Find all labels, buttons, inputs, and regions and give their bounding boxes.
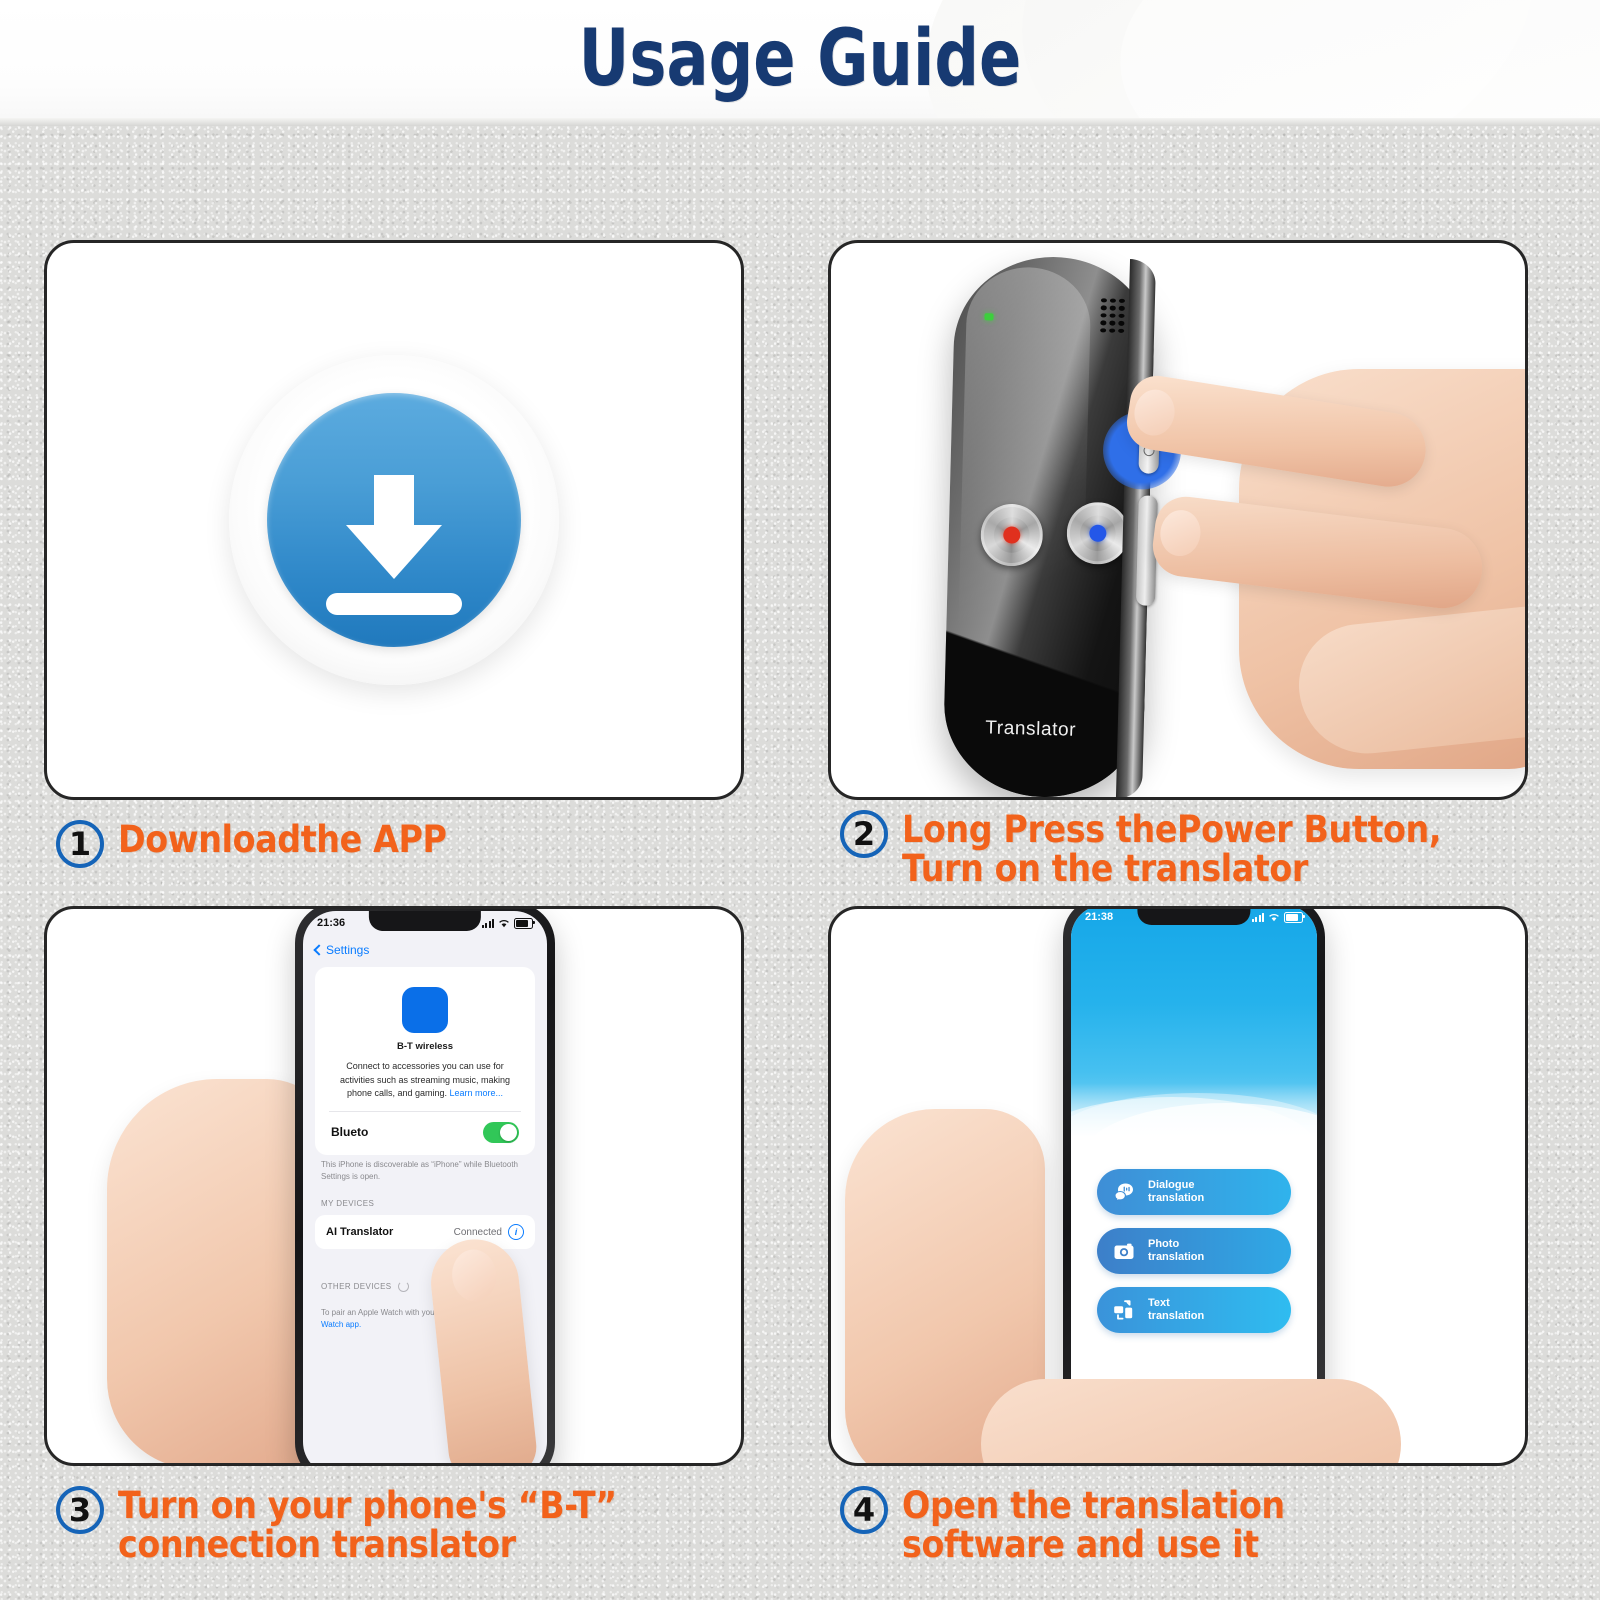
text-translation-button[interactable]: Text translation bbox=[1097, 1287, 1291, 1333]
status-icons bbox=[1252, 912, 1304, 923]
steps-grid: Translator bbox=[0, 126, 1600, 1600]
page-header: Usage Guide bbox=[0, 0, 1600, 124]
status-led bbox=[984, 313, 993, 320]
status-time: 21:36 bbox=[317, 917, 345, 929]
fingernail bbox=[1131, 387, 1178, 439]
download-icon[interactable] bbox=[229, 355, 559, 685]
status-icons bbox=[482, 918, 534, 929]
step-number-badge: 2 bbox=[840, 810, 888, 858]
usage-guide-page: Usage Guide bbox=[0, 0, 1600, 1600]
learn-more-link[interactable]: Learn more... bbox=[450, 1088, 504, 1098]
fingernail bbox=[1158, 508, 1203, 559]
phone-notch bbox=[1137, 906, 1250, 925]
arrow-stem bbox=[374, 475, 414, 527]
text-swap-icon bbox=[1111, 1297, 1137, 1323]
wifi-icon bbox=[1268, 912, 1280, 922]
step-panel-4: 21:38 bbox=[828, 906, 1528, 1466]
camera-icon bbox=[1111, 1238, 1137, 1264]
back-to-settings-link[interactable]: Settings bbox=[315, 943, 369, 957]
dialogue-translation-button[interactable]: Dialogue translation bbox=[1097, 1169, 1291, 1215]
step-panel-1 bbox=[44, 240, 744, 800]
pill-label: Text translation bbox=[1148, 1297, 1204, 1323]
translation-mode-list: Dialogue translation bbox=[1097, 1169, 1291, 1333]
step-caption-3: 3 Turn on your phone's “B-T” connection … bbox=[56, 1486, 672, 1564]
signal-icon bbox=[1252, 913, 1265, 922]
signal-icon bbox=[482, 919, 495, 928]
step-caption-1: 1 Downloadthe APP bbox=[56, 820, 483, 868]
panel-frame: 21:38 bbox=[828, 906, 1528, 1466]
bluetooth-app-icon bbox=[402, 987, 448, 1033]
fingernail bbox=[450, 1247, 499, 1303]
bluetooth-label: Blueto bbox=[331, 1125, 368, 1139]
step-caption-2: 2 Long Press thePower Button, Turn on th… bbox=[840, 810, 1501, 888]
speaker-grille-icon bbox=[1100, 298, 1125, 333]
step-caption-text: Open the translation software and use it bbox=[902, 1486, 1285, 1564]
pill-label: Photo translation bbox=[1148, 1238, 1204, 1264]
step-panel-2: Translator bbox=[828, 240, 1528, 800]
step-caption-text: Turn on your phone's “B-T” connection tr… bbox=[118, 1486, 617, 1564]
chevron-left-icon bbox=[313, 944, 324, 955]
phone-notch bbox=[369, 911, 481, 931]
bluetooth-description: Connect to accessories you can use for a… bbox=[329, 1060, 521, 1101]
home-indicator bbox=[1147, 1464, 1240, 1466]
wifi-icon bbox=[498, 918, 510, 928]
hand-lower-fingers bbox=[981, 1379, 1401, 1466]
step-number-badge: 4 bbox=[840, 1486, 888, 1534]
arrow-baseline bbox=[326, 593, 462, 615]
battery-icon bbox=[1284, 912, 1303, 923]
step-caption-4: 4 Open the translation software and use … bbox=[840, 1486, 1327, 1564]
arrow-head bbox=[346, 525, 442, 579]
app-name-label: B-T wireless bbox=[329, 1041, 521, 1052]
section-my-devices: MY DEVICES bbox=[321, 1199, 374, 1208]
header-divider bbox=[0, 118, 1600, 126]
step-panel-3: 21:36 Se bbox=[44, 906, 744, 1466]
status-time: 21:38 bbox=[1085, 911, 1113, 923]
step-caption-text: Downloadthe APP bbox=[118, 820, 447, 859]
photo-translation-button[interactable]: Photo translation bbox=[1097, 1228, 1291, 1274]
pill-label: Dialogue translation bbox=[1148, 1179, 1204, 1205]
device-label: Translator bbox=[943, 716, 1118, 743]
translator-device: Translator bbox=[942, 254, 1156, 799]
step-caption-text: Long Press thePower Button, Turn on the … bbox=[902, 810, 1441, 888]
dialogue-bubble-icon bbox=[1111, 1179, 1137, 1205]
panel-frame: 21:36 Se bbox=[44, 906, 744, 1466]
back-label: Settings bbox=[326, 943, 369, 957]
panel-frame bbox=[44, 240, 744, 800]
panel-frame: Translator bbox=[828, 240, 1528, 800]
page-title: Usage Guide bbox=[160, 14, 1440, 104]
step-number-badge: 3 bbox=[56, 1486, 104, 1534]
step-number-badge: 1 bbox=[56, 820, 104, 868]
download-icon-circle bbox=[267, 393, 521, 647]
battery-icon bbox=[514, 918, 533, 929]
hand-pressing-power bbox=[1149, 317, 1528, 787]
